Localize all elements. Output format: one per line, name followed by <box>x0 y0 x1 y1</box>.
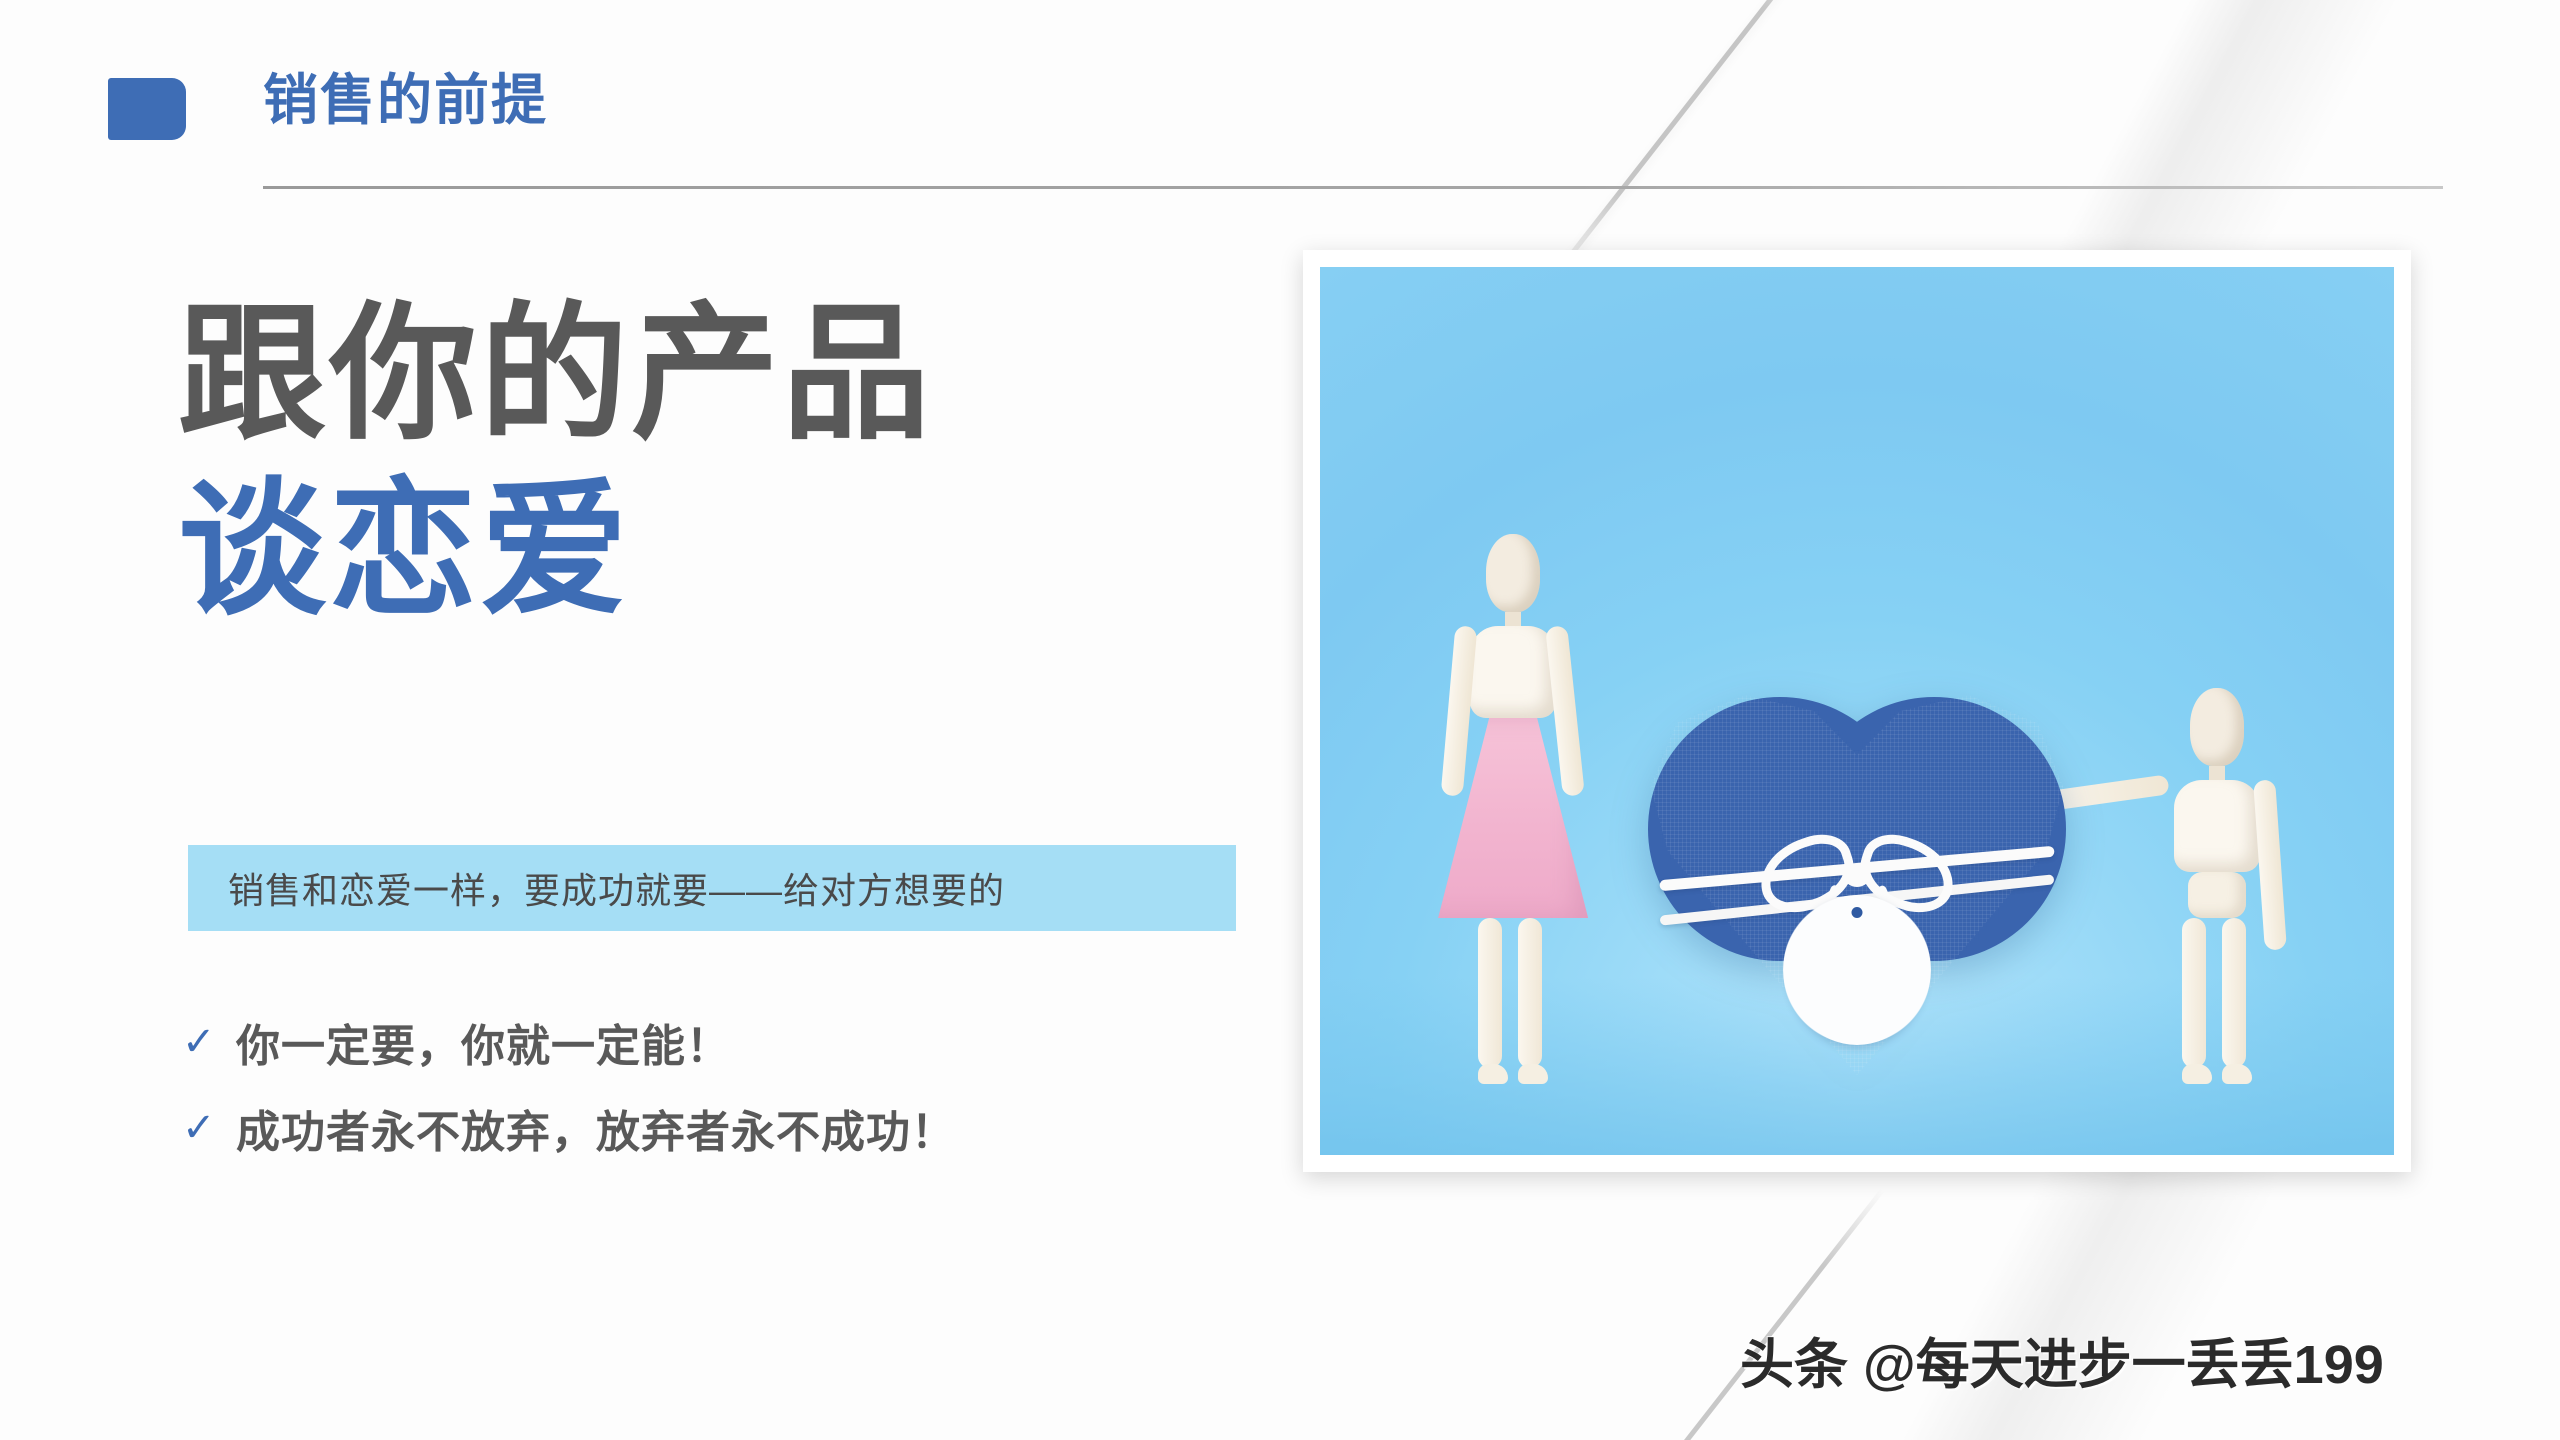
mannequin-legs <box>2182 918 2252 1084</box>
mannequin-leg-left <box>1478 918 1508 1084</box>
mannequin-leg-right <box>2222 918 2252 1084</box>
bullet-list: ✓ 你一定要，你就一定能！ ✓ 成功者永不放弃，放弃者永不成功！ <box>182 1015 956 1187</box>
list-item-label: 你一定要，你就一定能！ <box>236 1010 731 1074</box>
mannequin-arm-right <box>2253 779 2287 950</box>
mannequin-head <box>1486 534 1540 612</box>
heart-gift-box <box>1642 675 2072 1075</box>
mannequin-torso <box>1470 626 1556 718</box>
mannequin-neck <box>1505 612 1521 626</box>
mannequin-torso <box>2174 780 2260 872</box>
header-divider <box>263 186 2443 189</box>
watermark-text: 头条 @每天进步一丢丢199 <box>1740 1320 2384 1399</box>
mannequin-hips <box>2188 872 2246 918</box>
page-title: 销售的前提 <box>263 72 548 130</box>
gift-tag <box>1787 895 1927 1045</box>
list-item: ✓ 你一定要，你就一定能！ <box>182 1015 956 1069</box>
subtitle-text: 销售和恋爱一样，要成功就要——给对方想要的 <box>188 862 1005 914</box>
background-diagonal-line-bottom <box>1585 1188 1884 1440</box>
mannequin-neck <box>2209 766 2225 780</box>
check-icon: ✓ <box>182 1108 236 1148</box>
mannequin-leg-left <box>2182 918 2212 1084</box>
photo-frame <box>1303 250 2411 1172</box>
mannequin-male <box>2147 688 2287 1084</box>
slide-canvas: 销售的前提 跟你的产品 谈恋爱 销售和恋爱一样，要成功就要——给对方想要的 ✓ … <box>0 0 2560 1440</box>
background-diagonal-line-top <box>1547 0 1834 284</box>
mannequin-head <box>2190 688 2244 766</box>
headline: 跟你的产品 谈恋爱 <box>178 298 933 628</box>
check-icon: ✓ <box>182 1022 236 1062</box>
mannequin-female <box>1438 534 1588 1084</box>
subtitle-highlight-band: 销售和恋爱一样，要成功就要——给对方想要的 <box>188 845 1236 931</box>
mannequin-leg-right <box>1518 918 1548 1084</box>
photo-mannequins-with-heart-box <box>1320 267 2394 1155</box>
list-item-label: 成功者永不放弃，放弃者永不成功！ <box>236 1096 956 1160</box>
list-item: ✓ 成功者永不放弃，放弃者永不成功！ <box>182 1101 956 1155</box>
headline-line-1: 跟你的产品 <box>178 298 933 452</box>
header-accent-block <box>108 78 186 140</box>
mannequin-legs <box>1478 918 1548 1084</box>
headline-line-2: 谈恋爱 <box>178 474 933 628</box>
